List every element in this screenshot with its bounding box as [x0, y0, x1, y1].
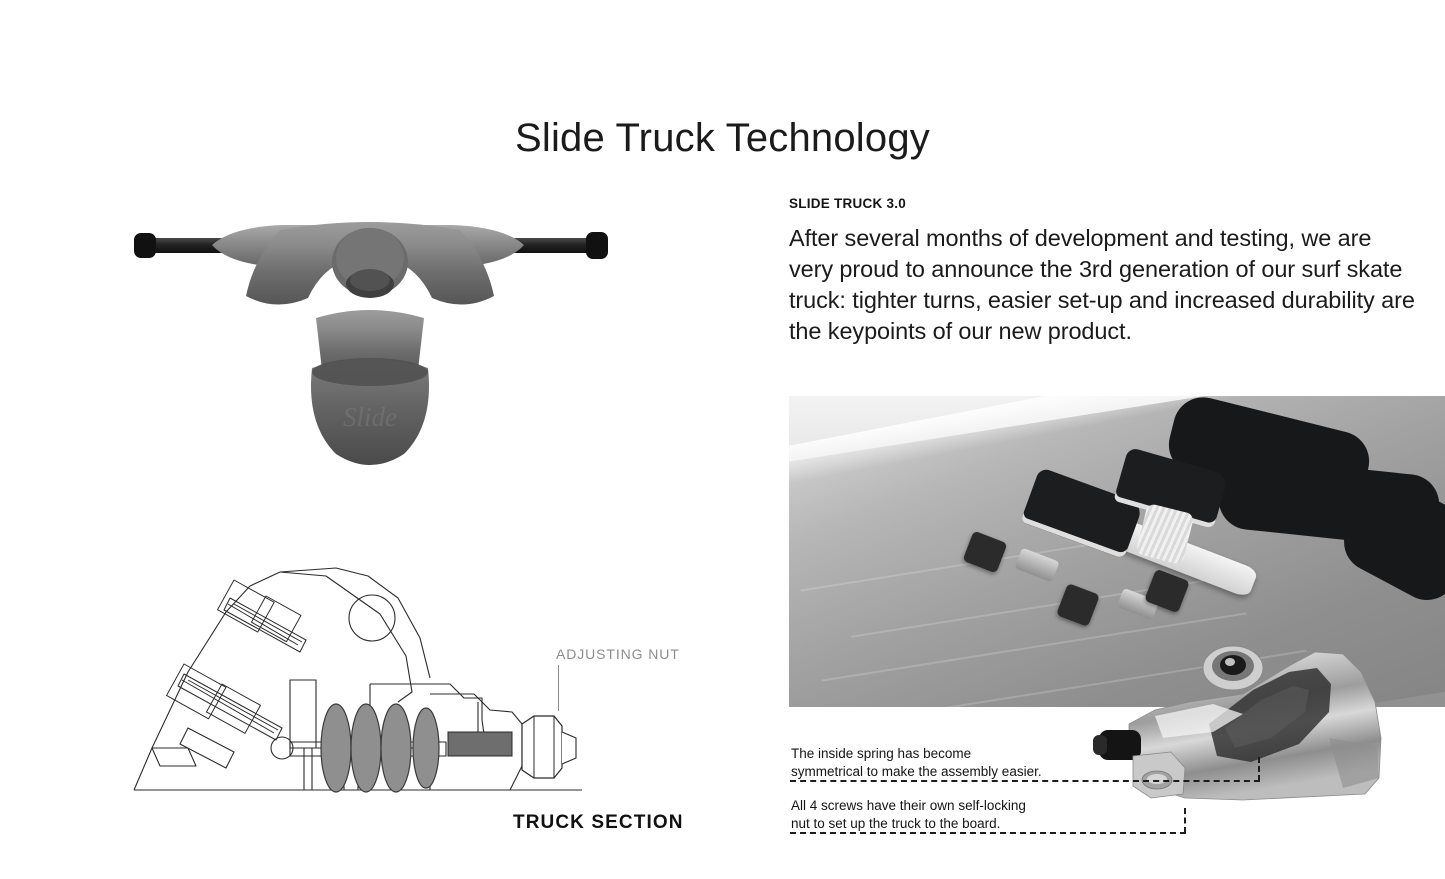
truck-section-svg — [130, 552, 590, 807]
brand-logo-emboss: Slide — [343, 402, 397, 432]
callout-screws: All 4 screws have their own self-locking… — [791, 797, 1026, 833]
product-description: After several months of development and … — [789, 223, 1419, 347]
callout-spring-leader-line — [790, 780, 1260, 782]
page-title: Slide Truck Technology — [0, 115, 1445, 161]
spring-coil — [321, 704, 439, 792]
technical-drawing-truck-section — [130, 552, 590, 807]
truck-section-caption: TRUCK SECTION — [513, 812, 684, 834]
callout-screws-leader-line — [790, 832, 1186, 834]
adjusting-nut-label: ADJUSTING NUT — [556, 646, 680, 662]
callout-spring-leader-tick — [1258, 757, 1260, 781]
callout-spring: The inside spring has become symmetrical… — [791, 745, 1042, 781]
page-root: Slide Truck Technology — [0, 0, 1445, 879]
product-kicker: SLIDE TRUCK 3.0 — [789, 196, 1419, 211]
callout-screws-leader-tick — [1184, 808, 1186, 833]
closeup-photo-truck — [1093, 628, 1423, 833]
product-photo-truck: Slide — [120, 200, 620, 475]
product-copy-block: SLIDE TRUCK 3.0 After several months of … — [789, 196, 1419, 347]
truck-closeup-svg — [1093, 628, 1423, 833]
adjusting-nut-shape — [522, 716, 576, 778]
adjusting-nut-leader-line — [558, 665, 559, 711]
truck-photo-svg: Slide — [120, 200, 620, 475]
shaft-block — [448, 732, 512, 756]
